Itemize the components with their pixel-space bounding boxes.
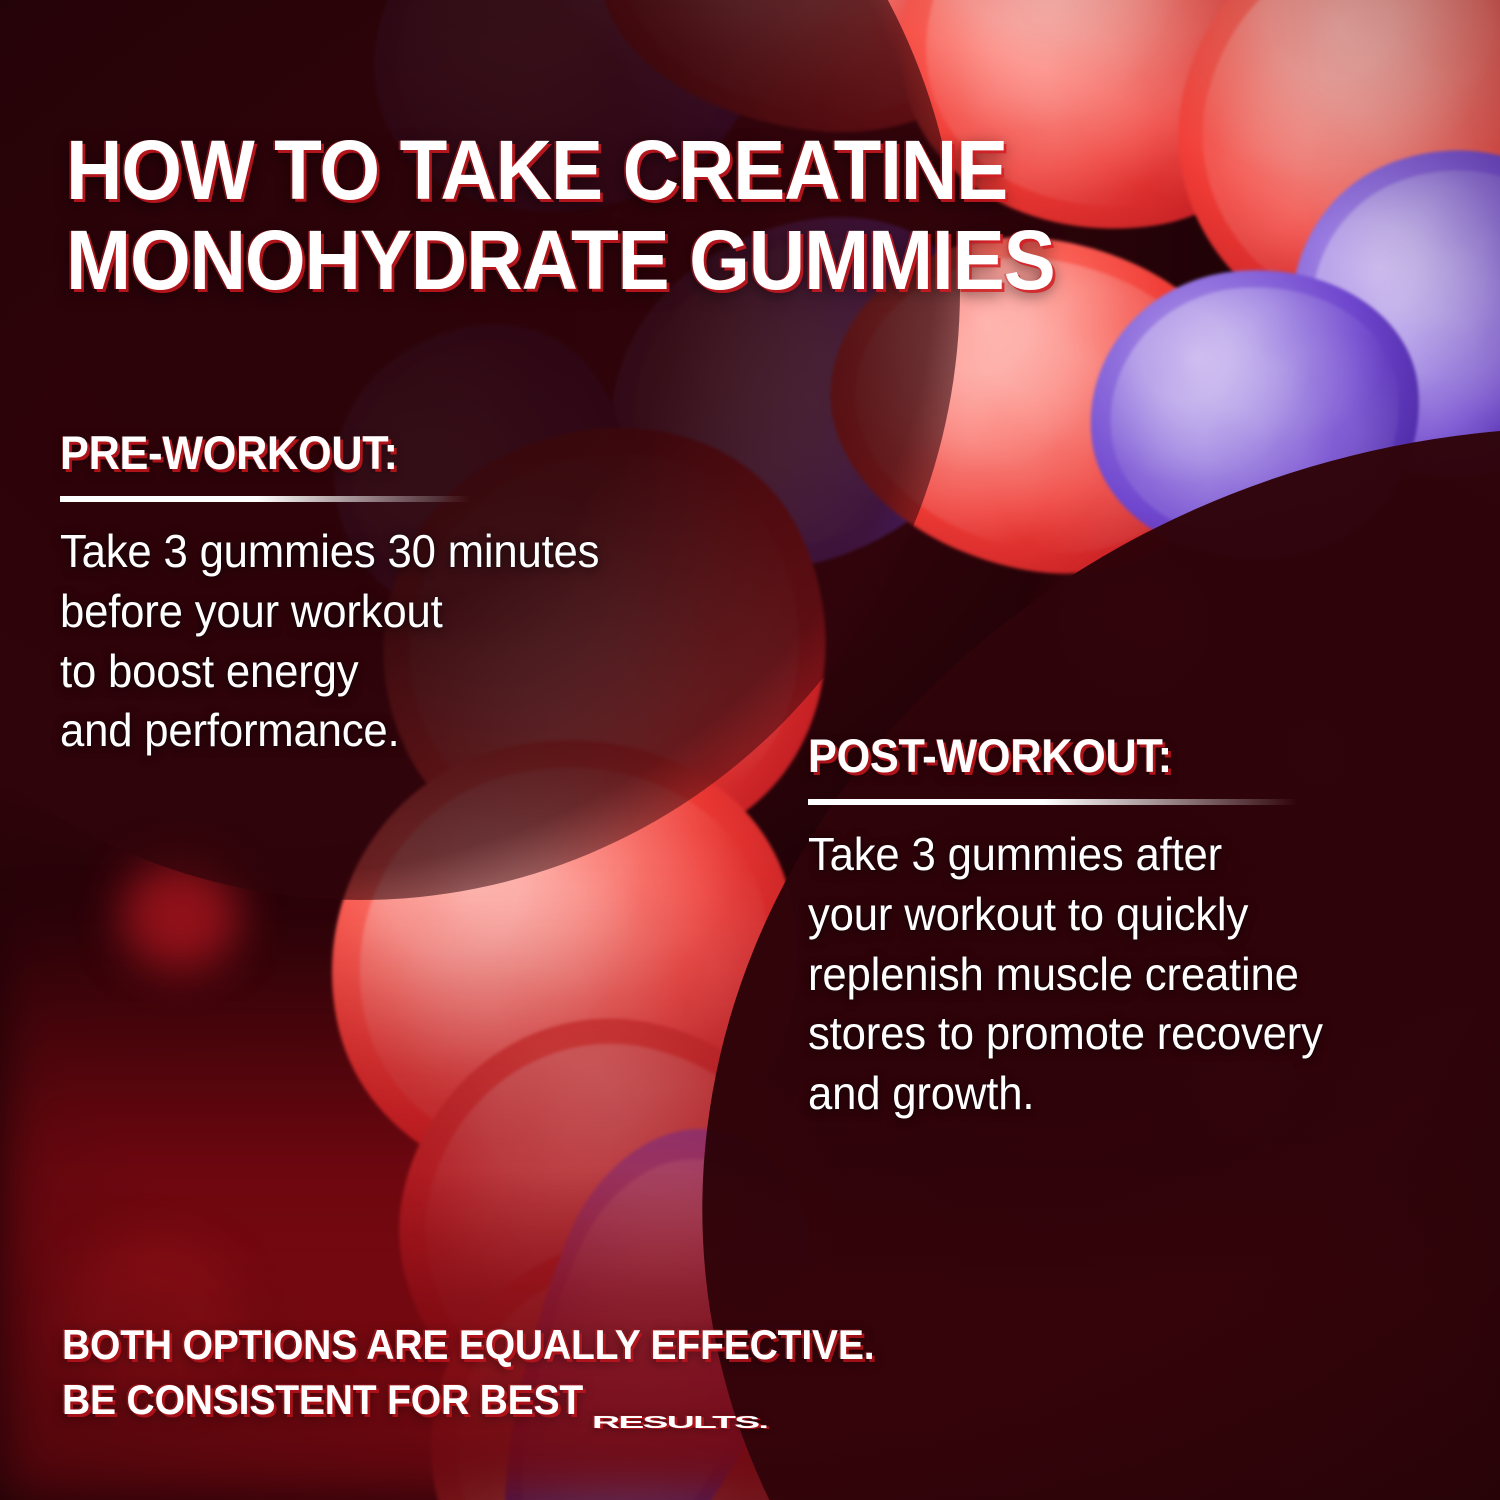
footer-line-2-text: BE CONSISTENT FOR BEST (62, 1376, 594, 1423)
poster-content: HOW TO TAKE CREATINE MONOHYDRATE GUMMIES… (0, 0, 1500, 1500)
pre-workout-divider (60, 496, 470, 502)
section-pre-workout: PRE-WORKOUT: Take 3 gummies 30 minutes b… (60, 425, 820, 761)
post-workout-body: Take 3 gummies after your workout to qui… (808, 825, 1445, 1124)
section-post-workout: POST-WORKOUT: Take 3 gummies after your … (808, 728, 1478, 1124)
post-workout-divider (808, 799, 1298, 805)
pre-workout-body: Take 3 gummies 30 minutes before your wo… (60, 522, 782, 761)
footer-glitched-word: RESULTS. (592, 1410, 767, 1433)
footer-line-1: BOTH OPTIONS ARE EQUALLY EFFECTIVE. (62, 1318, 1327, 1373)
pre-workout-heading: PRE-WORKOUT: (60, 425, 759, 480)
footer-line-2: BE CONSISTENT FOR BEST RESULTS. (62, 1373, 1327, 1428)
creatine-gummies-infographic: HOW TO TAKE CREATINE MONOHYDRATE GUMMIES… (0, 0, 1500, 1500)
footer-callout: BOTH OPTIONS ARE EQUALLY EFFECTIVE. BE C… (62, 1318, 1327, 1427)
post-workout-heading: POST-WORKOUT: (808, 728, 1424, 783)
page-title: HOW TO TAKE CREATINE MONOHYDRATE GUMMIES (66, 126, 1368, 306)
